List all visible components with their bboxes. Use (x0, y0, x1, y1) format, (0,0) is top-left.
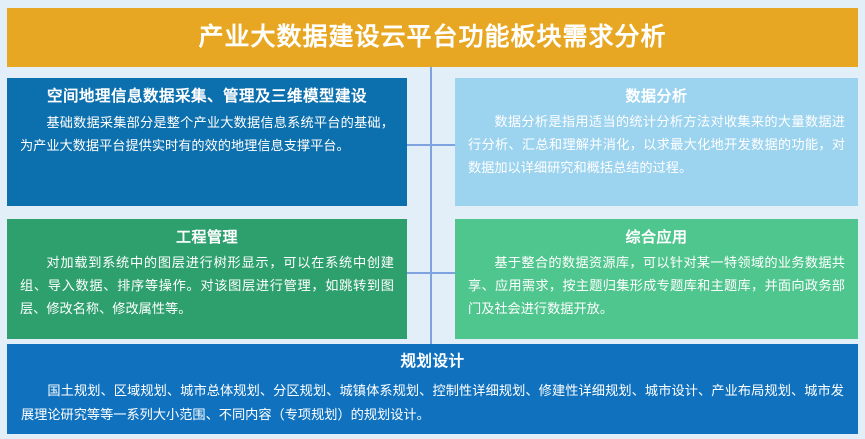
panel-data-analysis-title: 数据分析 (468, 87, 845, 107)
panel-spatial-geo-info-body: 基础数据采集部分是整个产业大数据信息系统平台的基础，为产业大数据平台提供实时有的… (20, 112, 394, 157)
panel-planning-design[interactable]: 规划设计 国土规划、区域规划、城市总体规划、分区规划、城镇体系规划、控制性详细规… (7, 344, 858, 434)
connector-branch-bottom-right (430, 272, 456, 274)
panel-integrated-application[interactable]: 综合应用 基于整合的数据资源库，可以针对某一特领域的业务数据共享、应用需求，按主… (455, 219, 858, 339)
panel-spatial-geo-info-title: 空间地理信息数据采集、管理及三维模型建设 (20, 87, 394, 108)
panel-spatial-geo-info[interactable]: 空间地理信息数据采集、管理及三维模型建设 基础数据采集部分是整个产业大数据信息系… (7, 78, 407, 206)
connector-branch-top-left (407, 144, 431, 146)
connector-branch-bottom-left (407, 272, 431, 274)
connector-branch-top-right (430, 144, 456, 146)
panel-engineering-management[interactable]: 工程管理 对加载到系统中的图层进行树形显示，可以在系统中创建组、导入数据、排序等… (7, 219, 407, 339)
panel-integrated-application-title: 综合应用 (468, 228, 845, 248)
page-title: 产业大数据建设云平台功能板块需求分析 (198, 24, 666, 52)
panel-integrated-application-body: 基于整合的数据资源库，可以针对某一特领域的业务数据共享、应用需求，按主题归集形成… (468, 252, 845, 320)
diagram-canvas: 产业大数据建设云平台功能板块需求分析 空间地理信息数据采集、管理及三维模型建设 … (0, 0, 865, 439)
panel-engineering-management-title: 工程管理 (20, 228, 394, 248)
panel-planning-design-title: 规划设计 (21, 352, 844, 373)
panel-planning-design-body: 国土规划、区域规划、城市总体规划、分区规划、城镇体系规划、控制性详细规划、修建性… (21, 379, 844, 427)
diagram-title-banner: 产业大数据建设云平台功能板块需求分析 (7, 8, 858, 67)
panel-data-analysis-body: 数据分析是指用适当的统计分析方法对收集来的大量数据进行分析、汇总和理解并消化，以… (468, 111, 845, 179)
panel-engineering-management-body: 对加载到系统中的图层进行树形显示，可以在系统中创建组、导入数据、排序等操作。对该… (20, 252, 394, 320)
connector-vertical-spine (430, 67, 432, 345)
panel-data-analysis[interactable]: 数据分析 数据分析是指用适当的统计分析方法对收集来的大量数据进行分析、汇总和理解… (455, 78, 858, 206)
